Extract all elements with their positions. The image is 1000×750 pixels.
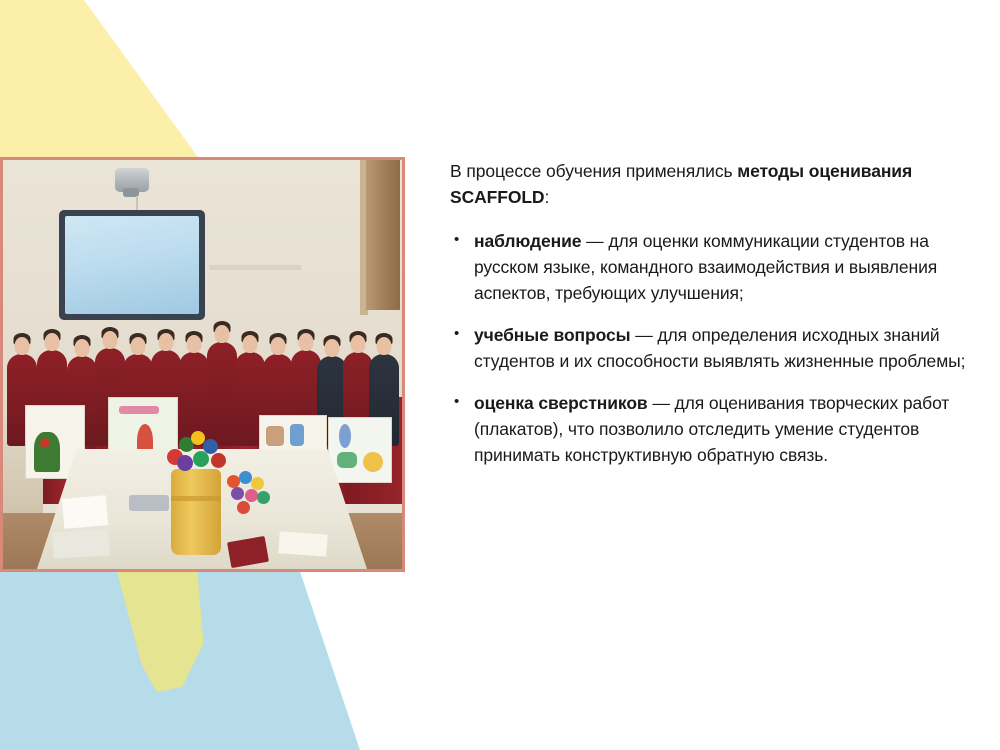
- tray: [129, 495, 169, 511]
- intro-text-before: В процессе обучения применялись: [450, 161, 737, 181]
- bullet-dash: —: [648, 393, 675, 413]
- blue-triangle-decoration-bottom-left: [0, 568, 360, 750]
- wall-rail: [209, 265, 301, 270]
- bullet-dash: —: [630, 325, 657, 345]
- paper-flower-bouquet-secondary: [225, 471, 277, 521]
- bullet-dash: —: [581, 231, 608, 251]
- yellow-teardrop-decoration-bottom-left: [104, 570, 230, 692]
- intro-paragraph: В процессе обучения применялись методы о…: [450, 158, 970, 210]
- yellow-vase: [171, 469, 221, 555]
- list-item: наблюдение — для оценки коммуникации сту…: [450, 228, 970, 306]
- bullet-term: наблюдение: [474, 231, 581, 251]
- interactive-whiteboard-screen: [65, 216, 199, 314]
- yellow-triangle-decoration-top-left: [0, 0, 200, 160]
- paper-sheet: [62, 495, 108, 529]
- scaffold-methods-list: наблюдение — для оценки коммуникации сту…: [450, 228, 970, 468]
- paper-sheet: [52, 530, 109, 559]
- bullet-term: учебные вопросы: [474, 325, 630, 345]
- list-item: оценка сверстников — для оценивания твор…: [450, 390, 970, 468]
- classroom-photo: [0, 157, 405, 572]
- photo-canvas: [3, 160, 402, 569]
- presentation-slide: В процессе обучения применялись методы о…: [0, 0, 1000, 750]
- student-poster: [328, 417, 392, 483]
- list-item: учебные вопросы — для определения исходн…: [450, 322, 970, 374]
- intro-text-after: :: [544, 187, 549, 207]
- slide-text-column: В процессе обучения применялись методы о…: [450, 158, 970, 484]
- paper-flower-bouquet: [163, 429, 229, 477]
- door: [366, 160, 400, 310]
- vase-band: [171, 496, 221, 501]
- bullet-term: оценка сверстников: [474, 393, 648, 413]
- paper-sheet: [278, 531, 327, 556]
